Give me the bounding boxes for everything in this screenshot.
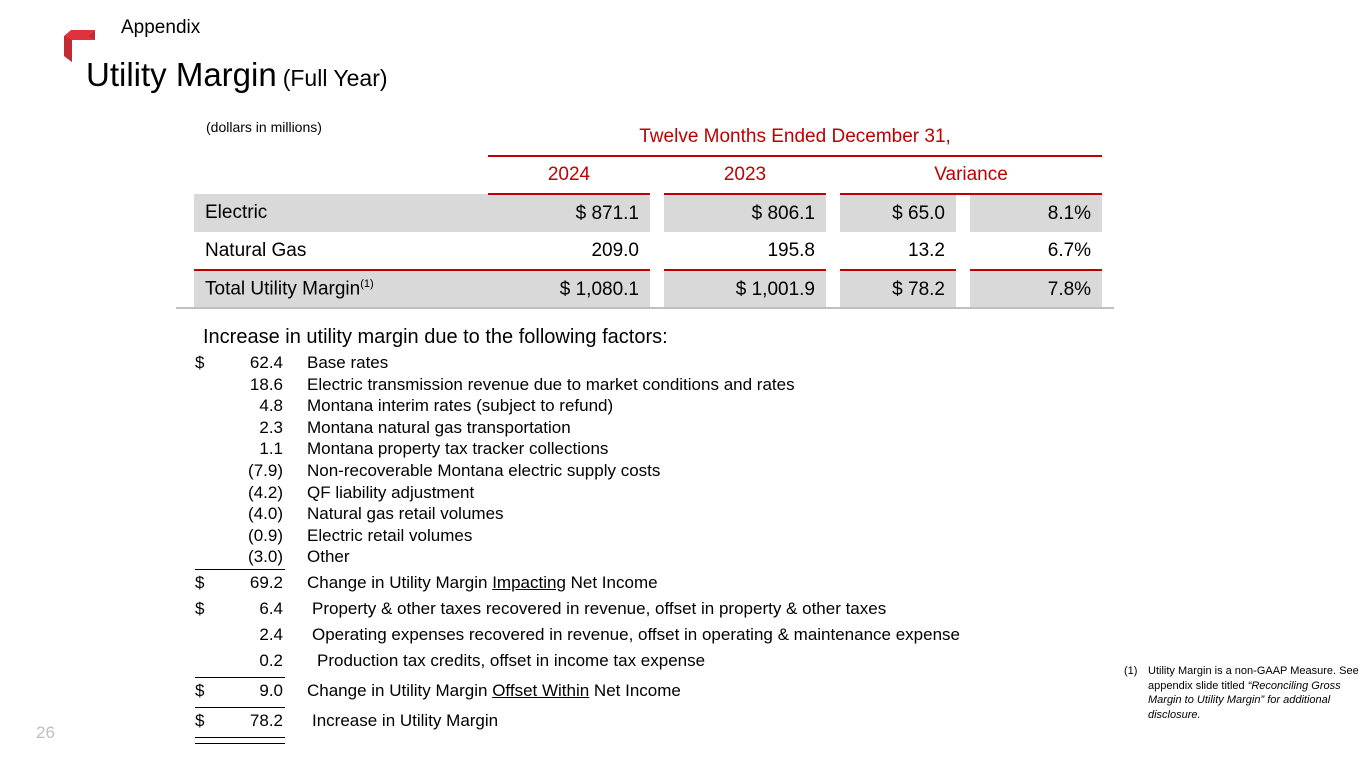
page-title-subtitle: (Full Year) bbox=[283, 65, 388, 91]
description-part-2: Net Income bbox=[566, 573, 658, 592]
list-item: 18.6 Electric transmission revenue due t… bbox=[195, 375, 1195, 397]
amount: (4.2) bbox=[215, 483, 285, 503]
amount: 2.3 bbox=[215, 418, 285, 438]
cell-gap bbox=[826, 194, 840, 232]
description: Electric retail volumes bbox=[285, 526, 1195, 546]
horizontal-rule bbox=[195, 707, 285, 709]
header-blank-cell bbox=[194, 120, 488, 156]
row-value-variance-dollar: $ 78.2 bbox=[840, 270, 956, 309]
row-value-variance-dollar: 13.2 bbox=[840, 232, 956, 270]
row-value-variance-dollar: $ 65.0 bbox=[840, 194, 956, 232]
column-header-2024: 2024 bbox=[488, 156, 650, 194]
list-item: 4.8 Montana interim rates (subject to re… bbox=[195, 396, 1195, 418]
table-period-header: Twelve Months Ended December 31, bbox=[488, 120, 1102, 156]
currency-symbol: $ bbox=[195, 353, 215, 373]
description: Change in Utility Margin Offset Within N… bbox=[285, 681, 1195, 701]
description: Electric transmission revenue due to mar… bbox=[285, 375, 1195, 395]
description: QF liability adjustment bbox=[285, 483, 1195, 503]
amount: (3.0) bbox=[215, 547, 285, 567]
list-item: 2.4 Operating expenses recovered in reve… bbox=[195, 625, 1195, 651]
cell-gap bbox=[826, 270, 840, 309]
currency-symbol: $ bbox=[195, 573, 215, 593]
list-item: (4.0) Natural gas retail volumes bbox=[195, 504, 1195, 526]
cell-gap bbox=[650, 232, 664, 270]
row-label-total: Total Utility Margin(1) bbox=[194, 270, 488, 309]
description: Montana property tax tracker collections bbox=[285, 439, 1195, 459]
row-value-2024: $ 871.1 bbox=[488, 194, 650, 232]
list-item: (4.2) QF liability adjustment bbox=[195, 483, 1195, 505]
footnote-marker: (1) bbox=[1124, 664, 1148, 722]
description: Increase in Utility Margin bbox=[285, 711, 1195, 731]
row-value-2023: 195.8 bbox=[664, 232, 826, 270]
amount: 4.8 bbox=[215, 396, 285, 416]
cell-gap bbox=[650, 270, 664, 309]
cell-gap bbox=[826, 232, 840, 270]
horizontal-rule bbox=[195, 677, 285, 679]
subtotal-row-offset: $ 9.0 Change in Utility Margin Offset Wi… bbox=[195, 681, 1195, 707]
description-emphasis: Offset Within bbox=[492, 681, 589, 700]
row-label-total-text: Total Utility Margin bbox=[205, 279, 360, 300]
horizontal-rule-double bbox=[195, 737, 285, 744]
list-item: 0.2 Production tax credits, offset in in… bbox=[195, 651, 1195, 677]
header-gap-2 bbox=[826, 156, 840, 194]
cell-gap bbox=[956, 194, 970, 232]
list-item: $ 6.4 Property & other taxes recovered i… bbox=[195, 599, 1195, 625]
amount: (0.9) bbox=[215, 526, 285, 546]
description-emphasis: Impacting bbox=[492, 573, 566, 592]
description: Montana natural gas transportation bbox=[285, 418, 1195, 438]
table-row-total: Total Utility Margin(1) $ 1,080.1 $ 1,00… bbox=[194, 270, 1102, 309]
eyebrow-label: Appendix bbox=[121, 17, 200, 39]
description-part-1: Change in Utility Margin bbox=[307, 681, 492, 700]
description: Non-recoverable Montana electric supply … bbox=[285, 461, 1195, 481]
footnote-body: Utility Margin is a non-GAAP Measure. Se… bbox=[1148, 664, 1365, 722]
horizontal-rule bbox=[195, 569, 285, 571]
description: Property & other taxes recovered in reve… bbox=[285, 599, 1195, 619]
description-part-2: Net Income bbox=[589, 681, 681, 700]
column-header-2023: 2023 bbox=[664, 156, 826, 194]
amount: (7.9) bbox=[215, 461, 285, 481]
list-item: (7.9) Non-recoverable Montana electric s… bbox=[195, 461, 1195, 483]
amount: 0.2 bbox=[215, 651, 285, 671]
amount: 1.1 bbox=[215, 439, 285, 459]
row-value-2024: 209.0 bbox=[488, 232, 650, 270]
description: Production tax credits, offset in income… bbox=[285, 651, 1195, 671]
subtotal-row-impacting: $ 69.2 Change in Utility Margin Impactin… bbox=[195, 573, 1195, 599]
page-title: Utility Margin(Full Year) bbox=[86, 56, 388, 97]
description: Montana interim rates (subject to refund… bbox=[285, 396, 1195, 416]
row-value-variance-percent: 6.7% bbox=[970, 232, 1102, 270]
factors-heading: Increase in utility margin due to the fo… bbox=[203, 325, 668, 349]
page-number: 26 bbox=[36, 723, 55, 743]
row-value-2024: $ 1,080.1 bbox=[488, 270, 650, 309]
table-header-columns-row: 2024 2023 Variance bbox=[194, 156, 1102, 194]
amount: 2.4 bbox=[215, 625, 285, 645]
description: Base rates bbox=[285, 353, 1195, 373]
table-row: Electric $ 871.1 $ 806.1 $ 65.0 8.1% bbox=[194, 194, 1102, 232]
row-label: Electric bbox=[194, 194, 488, 232]
description: Operating expenses recovered in revenue,… bbox=[285, 625, 1195, 645]
header-gap-1 bbox=[650, 156, 664, 194]
amount: 6.4 bbox=[215, 599, 285, 619]
utility-margin-table: Twelve Months Ended December 31, 2024 20… bbox=[194, 120, 1102, 309]
description-part-1: Change in Utility Margin bbox=[307, 573, 492, 592]
list-item: (3.0) Other bbox=[195, 547, 1195, 569]
page-title-main: Utility Margin bbox=[86, 56, 277, 93]
row-value-variance-percent: 7.8% bbox=[970, 270, 1102, 309]
amount: 62.4 bbox=[215, 353, 285, 373]
factors-list: $ 62.4 Base rates 18.6 Electric transmis… bbox=[195, 353, 1195, 737]
footnote: (1) Utility Margin is a non-GAAP Measure… bbox=[1124, 664, 1365, 722]
row-label: Natural Gas bbox=[194, 232, 488, 270]
amount: 78.2 bbox=[215, 711, 285, 731]
currency-symbol: $ bbox=[195, 599, 215, 619]
table-row: Natural Gas 209.0 195.8 13.2 6.7% bbox=[194, 232, 1102, 270]
list-item: (0.9) Electric retail volumes bbox=[195, 526, 1195, 548]
cell-gap bbox=[956, 270, 970, 309]
row-value-2023: $ 806.1 bbox=[664, 194, 826, 232]
cell-gap bbox=[956, 232, 970, 270]
amount: (4.0) bbox=[215, 504, 285, 524]
list-item: 1.1 Montana property tax tracker collect… bbox=[195, 439, 1195, 461]
grand-total-row: $ 78.2 Increase in Utility Margin bbox=[195, 711, 1195, 737]
cell-gap bbox=[650, 194, 664, 232]
list-item: 2.3 Montana natural gas transportation bbox=[195, 418, 1195, 440]
row-value-2023: $ 1,001.9 bbox=[664, 270, 826, 309]
column-header-variance: Variance bbox=[840, 156, 1102, 194]
footnote-marker-superscript: (1) bbox=[360, 278, 373, 290]
amount: 9.0 bbox=[215, 681, 285, 701]
amount: 69.2 bbox=[215, 573, 285, 593]
header-blank-cell-2 bbox=[194, 156, 488, 194]
row-value-variance-percent: 8.1% bbox=[970, 194, 1102, 232]
table-header-period-row: Twelve Months Ended December 31, bbox=[194, 120, 1102, 156]
currency-symbol: $ bbox=[195, 711, 215, 731]
amount: 18.6 bbox=[215, 375, 285, 395]
description: Natural gas retail volumes bbox=[285, 504, 1195, 524]
currency-symbol: $ bbox=[195, 681, 215, 701]
section-divider bbox=[176, 307, 1114, 309]
description: Change in Utility Margin Impacting Net I… bbox=[285, 573, 1195, 593]
list-item: $ 62.4 Base rates bbox=[195, 353, 1195, 375]
description: Other bbox=[285, 547, 1195, 567]
